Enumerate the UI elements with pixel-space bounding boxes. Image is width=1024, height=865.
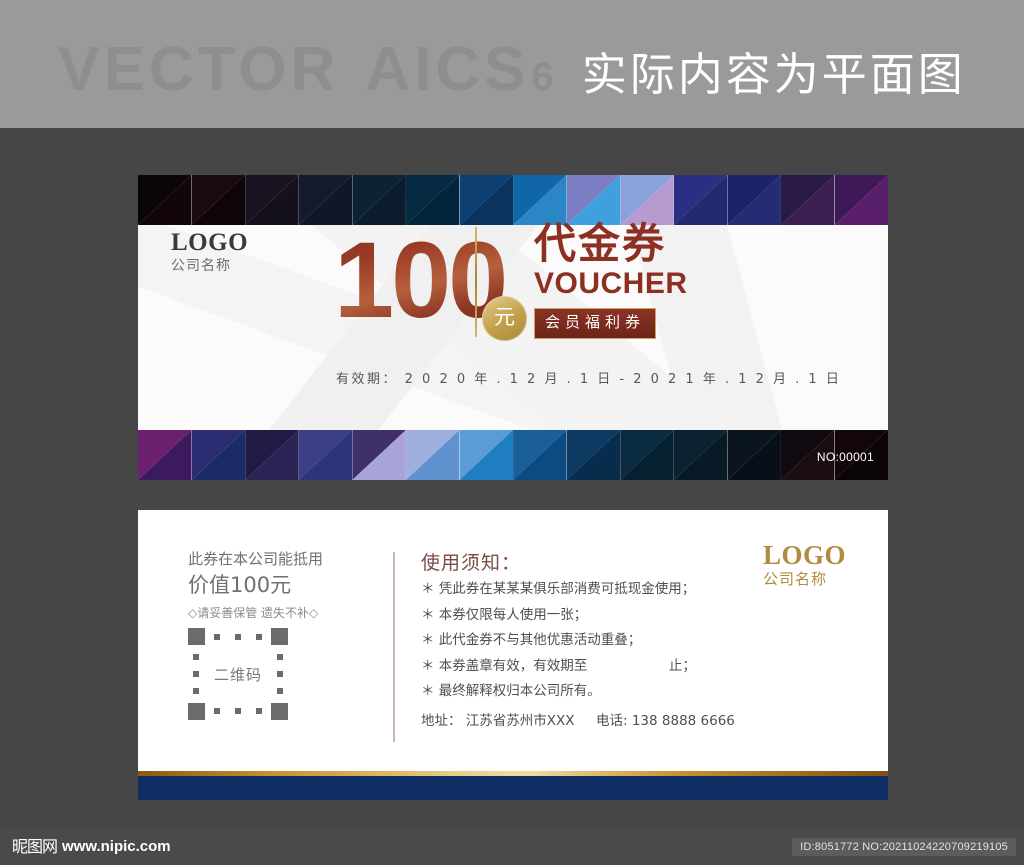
usage-notice-item: ＊ 本券盖章有效，有效期至 止； [421,660,761,674]
site-footer: 昵图网 www.nipic.com ID:8051772 NO:20211024… [0,828,1024,865]
triangle-cell [352,430,406,480]
voucher-title-english: VOUCHER [534,269,734,299]
triangle-cell [727,430,781,480]
watermark-word-vector: VECTOR [58,39,339,101]
voucher-amount-block: 100 元 [334,230,505,329]
voucher-amount-value: 100 [334,230,505,329]
triangle-cell [299,430,353,480]
site-footer-logo: 昵图网 www.nipic.com [12,839,171,855]
contact-line: 地址： 江苏省苏州市XXX 电话: 138 8888 6666 [421,709,735,729]
triangle-cell [620,430,674,480]
usage-notice-item: ＊ 本券仅限每人使用一张； [421,609,761,623]
site-url: www.nipic.com [62,839,171,854]
voucher-title-block: 代金券 VOUCHER 会员福利券 [534,223,734,339]
triangle-pattern-band-bottom [138,430,888,480]
qr-dot [256,708,262,714]
voucher-company-name: 公司名称 [171,259,248,273]
qr-dot [193,654,199,660]
triangle-cell [406,175,460,225]
triangle-cell [245,175,299,225]
info-vertical-divider [393,552,395,742]
voucher-card: NO:00001 LOGO 公司名称 100 元 代金券 VOUCHER 会员福… [138,175,888,480]
qr-finder-bottom-left [188,703,205,720]
info-logo-text: LOGO [763,542,846,569]
info-logo-block: LOGO 公司名称 [763,542,846,587]
qr-dot [235,708,241,714]
qr-dot [277,654,283,660]
watermark-version-number: 6 [532,57,554,97]
triangle-cell [459,175,513,225]
triangle-cell [245,430,299,480]
usage-notice-item: ＊ 凭此券在某某某俱乐部消费可抵现金使用； [421,583,761,597]
triangle-cell [513,175,567,225]
triangle-cell [138,175,192,225]
usage-notice-block: 使用须知： ＊ 凭此券在某某某俱乐部消费可抵现金使用； ＊ 本券仅限每人使用一张… [421,548,761,711]
top-watermark-banner: VECTOR AICS 6 实际内容为平面图 [0,0,1024,128]
usage-notice-item: ＊ 最终解释权归本公司所有。 [421,685,761,699]
watermark-chinese-note: 实际内容为平面图 [582,52,966,97]
voucher-member-badge-label: 会员福利券 [545,313,645,331]
qr-code-placeholder: 二维码 [188,628,288,720]
triangle-cell [727,175,781,225]
voucher-logo-text: LOGO [171,230,248,255]
triangle-cell [674,175,728,225]
triangle-cell [192,175,246,225]
top-watermark-inner: VECTOR AICS 6 实际内容为平面图 [58,39,966,101]
qr-dot [214,634,220,640]
triangle-cell [835,175,888,225]
usage-notice-title: 使用须知： [421,548,761,575]
info-redeem-value: 价值100元 [188,572,383,599]
qr-dot [235,634,241,640]
triangle-cell [513,430,567,480]
info-keep-safe-note: ◇请妥善保管 遗失不补◇ [188,606,383,622]
info-blue-footer-bar [138,776,888,800]
qr-finder-top-right [271,628,288,645]
info-left-column: 此券在本公司能抵用 价值100元 ◇请妥善保管 遗失不补◇ [188,550,383,621]
triangle-cell [620,175,674,225]
triangle-cell [567,430,621,480]
triangle-cell [781,175,835,225]
voucher-gold-divider [475,227,477,337]
info-card: 此券在本公司能抵用 价值100元 ◇请妥善保管 遗失不补◇ 二维码 使用须 [138,510,888,800]
usage-notice-item: ＊ 此代金券不与其他优惠活动重叠； [421,634,761,648]
triangle-cell [192,430,246,480]
triangle-cell [459,430,513,480]
asset-id-badge: ID:8051772 NO:20211024220709219105 [792,838,1016,856]
info-company-name: 公司名称 [763,572,846,587]
watermark-word-aics: AICS [365,39,529,101]
voucher-currency-badge: 元 [482,296,527,341]
qr-dot [214,708,220,714]
voucher-title-chinese: 代金券 [534,223,734,265]
qr-dot [256,634,262,640]
qr-dot [193,688,199,694]
triangle-cell [567,175,621,225]
voucher-logo-block: LOGO 公司名称 [171,230,248,273]
triangle-cell [352,175,406,225]
voucher-currency-unit: 元 [494,307,515,328]
qr-finder-bottom-right [271,703,288,720]
voucher-member-badge: 会员福利券 [534,308,656,339]
triangle-pattern-band-top [138,175,888,225]
voucher-serial-number: NO:00001 [817,450,874,464]
qr-finder-top-left [188,628,205,645]
qr-dot [277,688,283,694]
triangle-cell [406,430,460,480]
design-canvas: NO:00001 LOGO 公司名称 100 元 代金券 VOUCHER 会员福… [0,128,1024,828]
info-redeem-note: 此券在本公司能抵用 [188,550,383,570]
voucher-validity-period: 有效期： 2 0 2 0 年 . 1 2 月 . 1 日 - 2 0 2 1 年… [336,368,841,387]
qr-code-label: 二维码 [188,664,288,685]
triangle-cell [299,175,353,225]
triangle-cell [674,430,728,480]
site-logo-mark: 昵图网 [12,839,57,855]
triangle-cell [138,430,192,480]
